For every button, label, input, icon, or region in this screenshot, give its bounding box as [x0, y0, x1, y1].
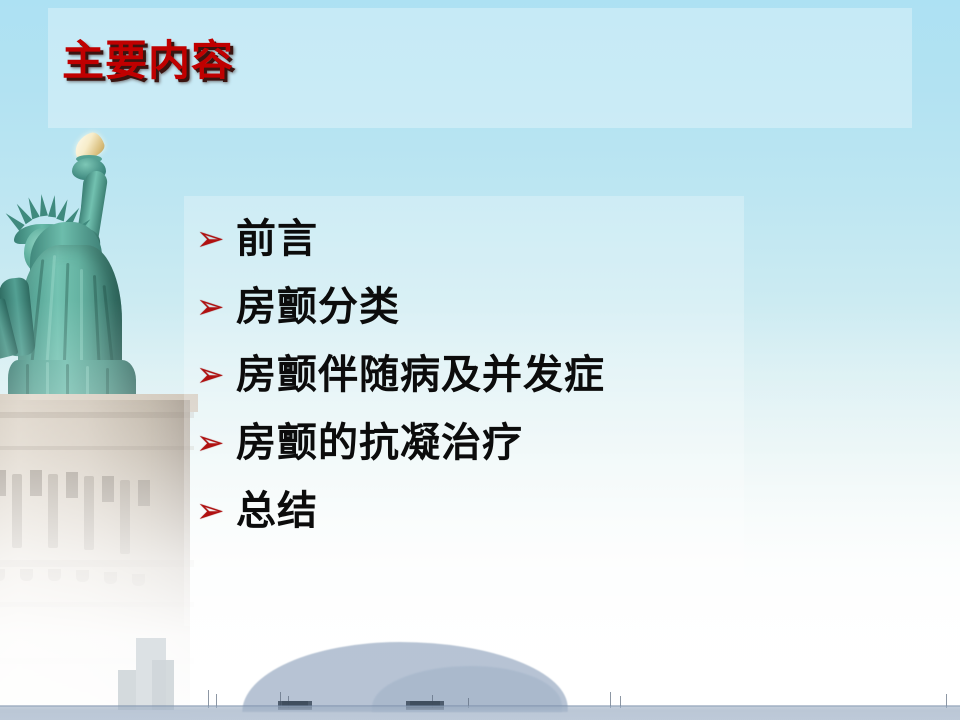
list-item-label: 房颤的抗凝治疗 — [236, 423, 523, 463]
arrow-bullet-icon: ➢ — [196, 494, 236, 528]
list-item[interactable]: ➢ 前言 — [196, 205, 756, 273]
list-item[interactable]: ➢ 总结 — [196, 477, 756, 545]
slide-canvas: 主要内容 ➢ 前言 ➢ 房颤分类 ➢ 房颤伴随病及并发症 ➢ 房颤的抗凝治疗 ➢… — [0, 0, 960, 720]
waterfront-band — [0, 706, 960, 720]
skyline-building — [118, 670, 136, 710]
list-item[interactable]: ➢ 房颤分类 — [196, 273, 756, 341]
skyline-building — [152, 660, 174, 710]
bullet-list: ➢ 前言 ➢ 房颤分类 ➢ 房颤伴随病及并发症 ➢ 房颤的抗凝治疗 ➢ 总结 — [196, 205, 756, 545]
list-item-label: 房颤伴随病及并发症 — [236, 355, 605, 395]
list-item-label: 前言 — [236, 219, 318, 259]
crown-spike-icon — [37, 194, 48, 217]
list-item-label: 房颤分类 — [236, 287, 400, 327]
slide-title: 主要内容 — [62, 36, 234, 86]
arrow-bullet-icon: ➢ — [196, 358, 236, 392]
list-item-label: 总结 — [236, 491, 318, 531]
list-item[interactable]: ➢ 房颤的抗凝治疗 — [196, 409, 756, 477]
arrow-bullet-icon: ➢ — [196, 426, 236, 460]
list-item[interactable]: ➢ 房颤伴随病及并发症 — [196, 341, 756, 409]
arrow-bullet-icon: ➢ — [196, 222, 236, 256]
arrow-bullet-icon: ➢ — [196, 290, 236, 324]
